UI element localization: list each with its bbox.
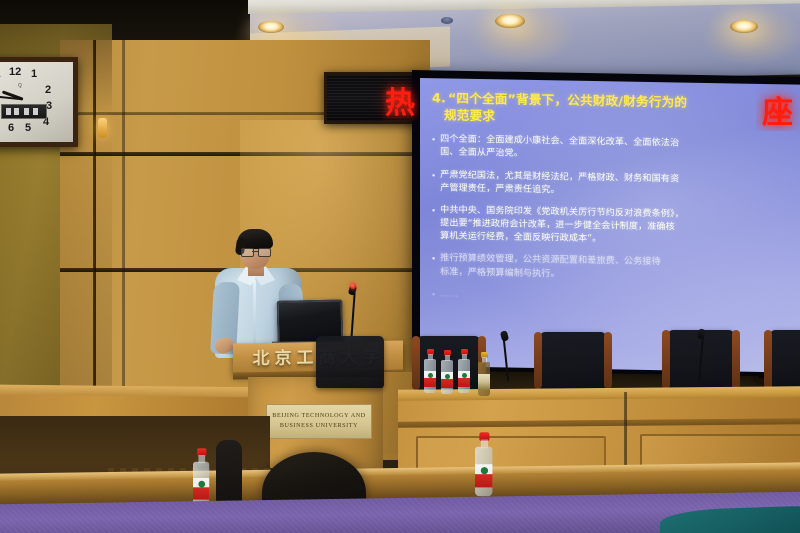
- tea-bottle: [478, 352, 490, 396]
- led-text-right: 座: [762, 87, 793, 132]
- slide-bullet-item: • ……: [432, 288, 790, 307]
- bullet-marker-icon: •: [432, 253, 435, 279]
- chair-armrest: [412, 336, 420, 390]
- ceiling-light-glow: [466, 0, 576, 66]
- podium-plate-line-1: BEIJING TECHNOLOGY AND: [272, 413, 365, 419]
- bullet-marker-icon: •: [432, 133, 435, 159]
- bullet-line: 产管理责任，严肃责任追究。: [440, 183, 560, 195]
- slide-title-number: 4.: [432, 90, 446, 105]
- speaker-glasses-icon: [241, 248, 269, 256]
- wall-lamp-icon: [98, 118, 107, 138]
- bullet-text: 四个全面：全面建成小康社会、全面深化改革、全面依法治 国、全面从严治党。: [440, 134, 679, 165]
- slide-bullet-item: • 严肃党纪国法，尤其是财经法纪，严格财政、财务和国有资 产管理责任，严肃责任追…: [432, 169, 790, 202]
- slide-bullet-list: • 四个全面：全面建成小康社会、全面深化改革、全面依法治 国、全面从严治党。 •…: [432, 133, 790, 307]
- clock-numeral: 11: [0, 68, 1, 80]
- lecture-hall-photo: 11 12 1 2 3 4 5 6 7 Q 热 座 4.“四个全面”背景下，公共…: [0, 0, 800, 533]
- clock-brand-mark: Q: [18, 83, 22, 89]
- podium-plate-line-2: BUSINESS UNIVERSITY: [280, 423, 358, 429]
- projection-screen: 4.“四个全面”背景下，公共财政/财务行为的 规范要求 • 四个全面：全面建成小…: [420, 78, 800, 373]
- clock-numeral: 12: [9, 66, 21, 78]
- bullet-line: 中共中央、国务院印发《党政机关厉行节约反对浪费条例》，: [440, 205, 684, 219]
- slide-title-line-2: 规范要求: [432, 107, 495, 125]
- clock-date-window: [1, 104, 47, 119]
- chair-armrest: [662, 330, 670, 389]
- bullet-line: 提出要“推进政府会计改革，进一步健全会计制度，准确核: [440, 218, 675, 232]
- bullet-marker-icon: •: [432, 169, 435, 195]
- microphone-indicator-light: [350, 283, 356, 289]
- ceiling-downlight-icon: [495, 14, 525, 28]
- slide-bullet-item: • 推行预算绩效管理，公共资源配置和差旅费、公务接待 标准，严格预算编制与执行。: [432, 253, 790, 286]
- bullet-line: 推行预算绩效管理，公共资源配置和差旅费、公务接待: [440, 254, 661, 268]
- ceiling-light-glow: [700, 4, 800, 66]
- bullet-line: 标准，严格预算编制与执行。: [440, 267, 560, 279]
- clock-numeral: 5: [25, 122, 31, 134]
- chair-armrest: [534, 332, 542, 389]
- clock-face: 11 12 1 2 3 4 5 6 7 Q: [0, 62, 73, 142]
- presentation-slide: 4.“四个全面”背景下，公共财政/财务行为的 规范要求 • 四个全面：全面建成小…: [420, 78, 800, 373]
- bullet-text: 中共中央、国务院印发《党政机关厉行节约反对浪费条例》， 提出要“推进政府会计改革…: [440, 204, 684, 248]
- conference-chair: [316, 336, 384, 388]
- bullet-text: 推行预算绩效管理，公共资源配置和差旅费、公务接待 标准，严格预算编制与执行。: [440, 253, 661, 283]
- sprinkler-head-icon: [441, 17, 453, 24]
- bullet-text: 严肃党纪国法，尤其是财经法纪，严格财政、财务和国有资 产管理责任，严肃责任追究。: [440, 169, 679, 200]
- bullet-line: 算机关运行经费，全面反映行政成本”。: [440, 232, 601, 245]
- conference-chair: [540, 332, 606, 390]
- water-bottle: [424, 349, 436, 393]
- bullet-line: 国、全面从严治党。: [440, 148, 523, 159]
- slide-bullet-item: • 四个全面：全面建成小康社会、全面深化改革、全面依法治 国、全面从严治党。: [432, 133, 790, 166]
- led-text-left: 热: [385, 78, 415, 122]
- clock-numeral: 6: [8, 122, 14, 134]
- slide-bullet-item: • 中共中央、国务院印发《党政机关厉行节约反对浪费条例》， 提出要“推进政府会计…: [432, 204, 790, 250]
- speaker-shirt-placket: [253, 280, 256, 352]
- wall-clock: 11 12 1 2 3 4 5 6 7 Q: [0, 57, 78, 147]
- chair-armrest: [732, 330, 740, 389]
- water-bottle: [458, 349, 470, 393]
- chair-armrest: [604, 332, 612, 389]
- chair-armrest: [764, 330, 772, 389]
- led-banner-left: 热: [324, 72, 422, 124]
- bullet-text: ……: [440, 288, 458, 301]
- ceiling-downlight-icon: [730, 20, 758, 33]
- podium-plate-text: BEIJING TECHNOLOGY AND BUSINESS UNIVERSI…: [272, 412, 365, 431]
- bullet-line: 严肃党纪国法，尤其是财经法纪，严格财政、财务和国有资: [440, 170, 679, 184]
- ceiling-downlight-icon: [258, 21, 284, 33]
- water-bottle: [441, 350, 453, 394]
- conference-chair: [770, 330, 800, 390]
- bullet-marker-icon: •: [432, 204, 435, 244]
- podium-university-name-en: BEIJING TECHNOLOGY AND BUSINESS UNIVERSI…: [266, 404, 372, 439]
- bullet-line: 四个全面：全面建成小康社会、全面深化改革、全面依法治: [440, 135, 679, 149]
- clock-numeral: 1: [31, 68, 37, 80]
- slide-title: 4.“四个全面”背景下，公共财政/财务行为的 规范要求: [432, 90, 790, 129]
- clock-numeral: 2: [45, 84, 51, 96]
- bullet-marker-icon: •: [432, 288, 435, 301]
